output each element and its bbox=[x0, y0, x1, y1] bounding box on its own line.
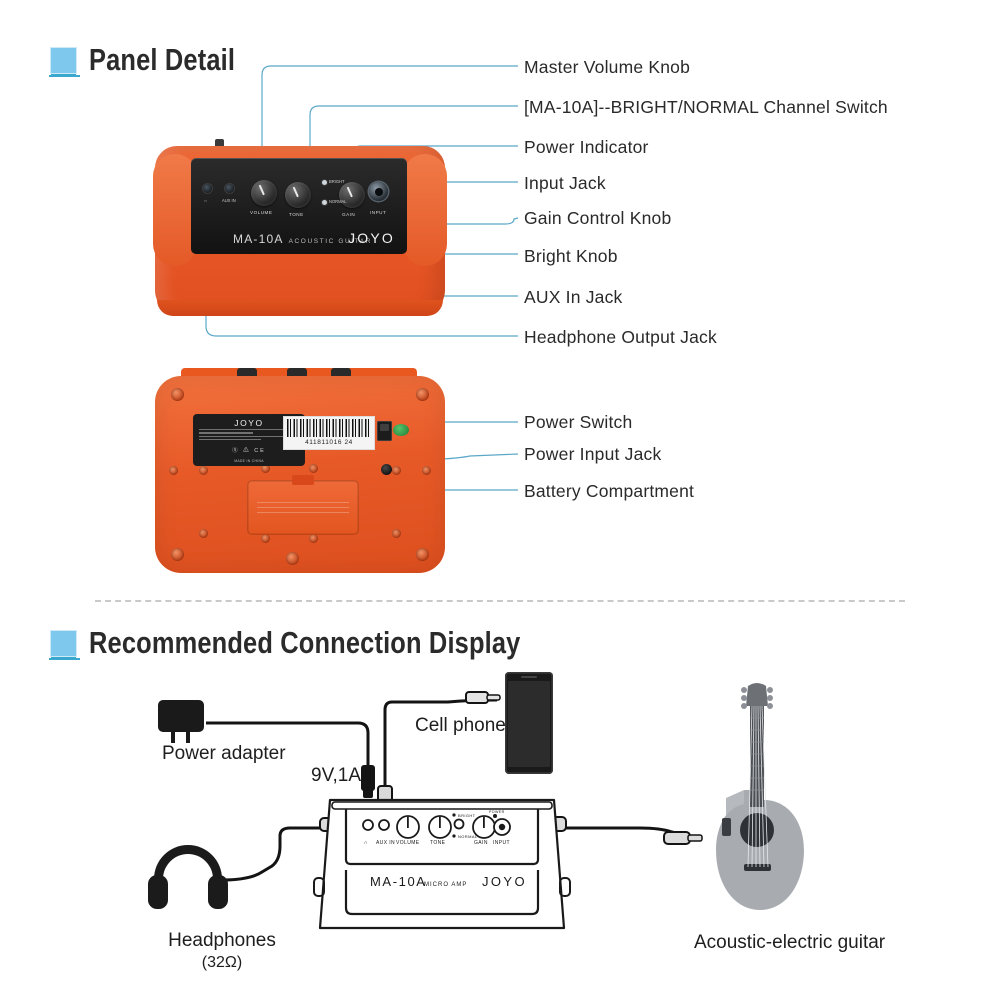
art-brand: JOYO bbox=[482, 874, 527, 889]
headphone-earcup-left bbox=[148, 875, 168, 909]
headphone-output-jack[interactable] bbox=[203, 184, 212, 193]
input-jack[interactable] bbox=[369, 182, 388, 201]
gain-knob-label: GAIN bbox=[342, 212, 355, 217]
bright-switch-label: BRIGHT bbox=[329, 179, 344, 184]
normal-indicator-led bbox=[322, 200, 327, 205]
screw bbox=[392, 466, 401, 475]
screw bbox=[199, 466, 208, 475]
adapter-prong-left bbox=[171, 732, 175, 743]
phone-speaker bbox=[521, 676, 537, 678]
art-input-label: INPUT bbox=[493, 840, 510, 846]
screw bbox=[171, 548, 184, 561]
battery-door-ribs bbox=[257, 502, 349, 517]
panel-detail-heading: Panel Detail bbox=[50, 42, 267, 78]
section-divider bbox=[95, 600, 905, 602]
callout-aux-in-jack: AUX In Jack bbox=[524, 287, 622, 308]
art-volume-label: VOLUME bbox=[396, 840, 420, 846]
amp-model-text: MA-10A bbox=[233, 232, 284, 246]
product-manual-page: Panel Detail bbox=[0, 0, 1000, 1000]
phone-screen bbox=[508, 681, 550, 767]
cell-phone-icon bbox=[505, 672, 553, 774]
callout-input-jack: Input Jack bbox=[524, 173, 606, 194]
amp-back-illustration: JOYO ⓠ ⚠ CE MADE IN CHINA 411811016 24 bbox=[155, 368, 445, 573]
callout-channel-switch: [MA-10A]--BRIGHT/NORMAL Channel Switch bbox=[524, 97, 888, 118]
amp-back-body: JOYO ⓠ ⚠ CE MADE IN CHINA 411811016 24 bbox=[155, 376, 445, 573]
screw bbox=[169, 466, 178, 475]
amp-front-base bbox=[157, 300, 443, 316]
amp-front-illustration: ∩ AUX IN VOLUME TONE GAIN BRIGHT NORMAL … bbox=[155, 146, 445, 316]
screw bbox=[309, 464, 318, 473]
aux-in-jack-label: AUX IN bbox=[222, 198, 236, 203]
callout-battery-compartment: Battery Compartment bbox=[524, 481, 694, 502]
art-headphone-label: ∩ bbox=[364, 840, 368, 846]
art-power-label: POWER bbox=[489, 810, 505, 814]
volume-knob-label: VOLUME bbox=[250, 210, 272, 215]
normal-switch-label: NORMAL bbox=[329, 199, 347, 204]
callout-power-input-jack: Power Input Jack bbox=[524, 444, 661, 465]
callout-gain-control-knob: Gain Control Knob bbox=[524, 208, 671, 229]
headphones-impedance-label: (32Ω) bbox=[152, 954, 292, 972]
callout-master-volume-knob: Master Volume Knob bbox=[524, 57, 690, 78]
power-adapter-icon bbox=[158, 700, 204, 740]
guitar-label: Acoustic-electric guitar bbox=[694, 932, 885, 954]
callout-power-switch: Power Switch bbox=[524, 412, 632, 433]
power-switch-green-indicator bbox=[393, 424, 409, 436]
acoustic-electric-guitar-icon bbox=[700, 672, 820, 922]
tone-knob-label: TONE bbox=[289, 212, 304, 217]
battery-door-tab[interactable] bbox=[292, 475, 314, 485]
art-tone-label: TONE bbox=[430, 840, 446, 846]
power-switch[interactable] bbox=[377, 421, 392, 441]
joyo-logo: JOYO bbox=[348, 230, 395, 246]
connection-display-title: Recommended Connection Display bbox=[89, 625, 520, 661]
power-adapter-label: Power adapter bbox=[162, 743, 286, 765]
art-bright-label: BRIGHT bbox=[458, 813, 476, 818]
connection-display-heading: Recommended Connection Display bbox=[50, 625, 615, 661]
bright-indicator-led bbox=[322, 180, 327, 185]
screw bbox=[422, 466, 431, 475]
panel-detail-title: Panel Detail bbox=[89, 42, 235, 78]
art-aux-label: AUX IN bbox=[376, 840, 395, 846]
screw bbox=[416, 548, 429, 561]
power-input-jack[interactable] bbox=[381, 464, 392, 475]
art-model: MA-10A bbox=[370, 874, 427, 889]
barcode-bars bbox=[287, 419, 371, 437]
heading-marker-icon bbox=[50, 47, 77, 74]
callout-power-indicator: Power Indicator bbox=[524, 137, 649, 158]
input-jack-label: INPUT bbox=[370, 210, 386, 215]
amp-front-control-panel: ∩ AUX IN VOLUME TONE GAIN BRIGHT NORMAL … bbox=[191, 158, 407, 254]
screw bbox=[171, 388, 184, 401]
amp-right-corner bbox=[403, 154, 447, 266]
headphone-jack-label: ∩ bbox=[204, 198, 207, 203]
plate-footer: MADE IN CHINA bbox=[193, 459, 305, 463]
heading-marker-icon bbox=[50, 630, 77, 657]
barcode: 411811016 24 bbox=[283, 416, 375, 450]
headphones-icon bbox=[148, 845, 228, 915]
gain-knob[interactable] bbox=[339, 182, 365, 208]
battery-compartment[interactable] bbox=[247, 480, 359, 535]
headphones-label: Headphones bbox=[152, 930, 292, 952]
screw bbox=[261, 534, 270, 543]
callout-headphone-output-jack: Headphone Output Jack bbox=[524, 327, 717, 348]
screw bbox=[309, 534, 318, 543]
volume-knob[interactable] bbox=[251, 180, 277, 206]
adapter-body bbox=[158, 700, 204, 732]
screw bbox=[199, 529, 208, 538]
cell-phone-label: Cell phone bbox=[415, 715, 506, 737]
aux-in-jack[interactable] bbox=[225, 184, 234, 193]
tone-knob[interactable] bbox=[285, 182, 311, 208]
screw bbox=[286, 552, 299, 565]
amp-line-art: ∩ AUX IN VOLUME TONE GAIN INPUT BRIGHT N… bbox=[312, 782, 572, 932]
art-normal-label: NORMAL bbox=[458, 834, 478, 839]
headphone-earcup-right bbox=[208, 875, 228, 909]
screw bbox=[416, 388, 429, 401]
screw bbox=[392, 529, 401, 538]
barcode-number: 411811016 24 bbox=[305, 439, 353, 446]
art-gain-label: GAIN bbox=[474, 840, 488, 846]
adapter-prong-right bbox=[186, 732, 190, 743]
callout-bright-knob: Bright Knob bbox=[524, 246, 618, 267]
art-model-sub: MICRO AMP bbox=[424, 882, 467, 888]
